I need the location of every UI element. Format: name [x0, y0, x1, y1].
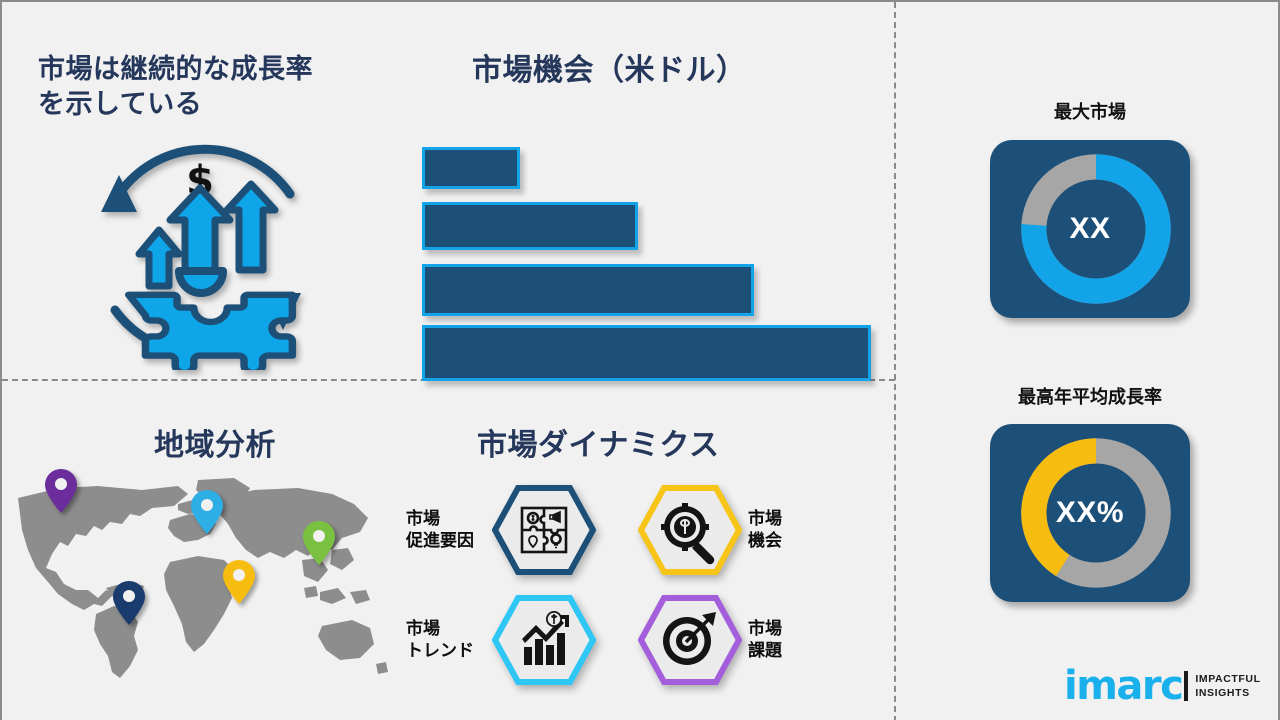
dynamics-card-challenges[interactable]: 市場 課題: [638, 590, 838, 690]
dynamics-card-opportunities[interactable]: 市場 機会: [638, 480, 838, 580]
logo-divider: [1184, 671, 1188, 701]
dynamics-card-label: 市場 機会: [742, 508, 828, 552]
hexagon-challenges: [638, 595, 742, 685]
bar-chart-row: [422, 264, 754, 316]
market-opportunity-bar-chart: [422, 147, 882, 352]
hexagon-drivers: [492, 485, 596, 575]
bar-chart-row: [422, 325, 871, 381]
opportunity-section-title: 市場機会（米ドル）: [472, 52, 747, 90]
largest-market-card: XX: [990, 140, 1190, 318]
market-dynamics-grid: 市場 促進要因: [406, 480, 826, 692]
growth-cycle-gear-icon: $: [75, 132, 325, 370]
map-pin-south-america[interactable]: [112, 580, 146, 626]
regional-section-title: 地域分析: [154, 427, 276, 465]
bar-4: [422, 325, 871, 381]
largest-market-title: 最大市場: [960, 98, 1220, 124]
dynamics-card-drivers[interactable]: 市場 促進要因: [406, 480, 616, 580]
highest-cagr-title: 最高年平均成長率: [960, 383, 1220, 409]
dynamics-card-label: 市場 課題: [742, 618, 828, 662]
bar-chart-row: [422, 147, 520, 189]
slide-canvas: 市場は継続的な成長率 を示している $ 市場機会（米ドル）: [0, 0, 1280, 720]
bar-1: [422, 147, 520, 189]
map-pin-europe[interactable]: [190, 489, 224, 535]
map-pin-east-asia[interactable]: [302, 520, 336, 566]
bar-3: [422, 264, 754, 316]
hexagon-opportunities: [638, 485, 742, 575]
map-pin-middle-east[interactable]: [222, 559, 256, 605]
vertical-divider: [894, 2, 896, 720]
highest-cagr-card: XX%: [990, 424, 1190, 602]
growth-section-title: 市場は継続的な成長率 を示している: [38, 52, 388, 121]
logo-tagline: IMPACTFUL INSIGHTS: [1195, 672, 1260, 700]
logo-wordmark: imarc: [1064, 666, 1182, 706]
bar-2: [422, 202, 638, 250]
dynamics-card-label: 市場 トレンド: [406, 618, 492, 662]
imarc-logo[interactable]: imarc IMPACTFUL INSIGHTS: [1064, 663, 1276, 709]
hexagon-trends: [492, 595, 596, 685]
map-pin-north-america[interactable]: [44, 468, 78, 514]
dynamics-section-title: 市場ダイナミクス: [477, 427, 720, 465]
bar-chart-row: [422, 202, 638, 250]
dynamics-card-label: 市場 促進要因: [406, 508, 492, 552]
largest-market-donut-chart: [1012, 145, 1180, 313]
dynamics-card-trends[interactable]: 市場 トレンド: [406, 590, 616, 690]
highest-cagr-donut-chart: [1012, 429, 1180, 597]
